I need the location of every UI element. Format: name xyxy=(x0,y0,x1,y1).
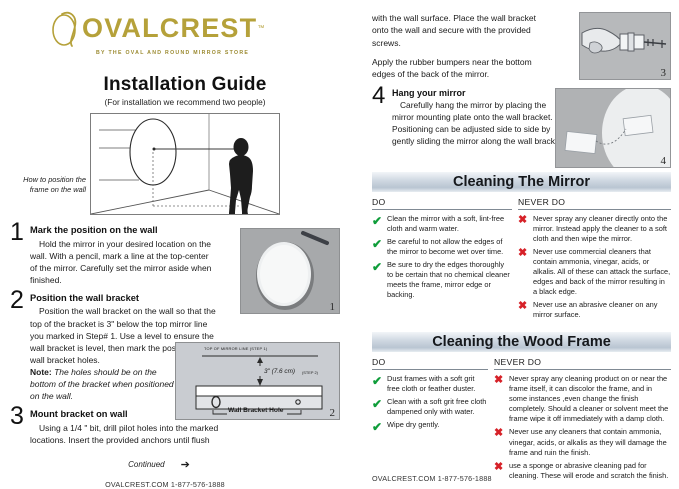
never-do-item: ✖ use a sponge or abrasive cleaning pad … xyxy=(494,461,671,481)
never-do-header: NEVER DO xyxy=(518,197,671,210)
right-column: with the wall surface. Place the wall br… xyxy=(372,0,679,489)
room-diagram-caption: How to position the frame on the wall xyxy=(10,175,86,195)
room-perspective-svg xyxy=(91,114,279,214)
never-do-item: ✖ Never use commercial cleaners that con… xyxy=(518,247,671,297)
do-item: ✔ Wipe dry gently. xyxy=(372,420,488,433)
arrow-right-icon: ➔ xyxy=(181,458,190,471)
check-icon: ✔ xyxy=(372,374,383,394)
step-4: 4 Hang your mirror Carefully hang the mi… xyxy=(372,88,570,148)
cross-icon: ✖ xyxy=(494,374,505,424)
step-2-note-text: The holes should be on the bottom of the… xyxy=(30,367,174,401)
cleaning-frame-do-column: DO ✔ Dust frames with a soft grit free c… xyxy=(372,357,494,484)
check-icon: ✔ xyxy=(372,237,383,257)
step-4-heading: Hang your mirror xyxy=(392,88,570,99)
step-3-number: 3 xyxy=(10,404,24,429)
step-3-body: Using a 1/4 " bit, drill pilot holes int… xyxy=(30,422,248,446)
left-column: OVALCREST ™ BY THE OVAL AND ROUND MIRROR… xyxy=(0,0,372,489)
step-2-heading: Position the wall bracket xyxy=(30,293,218,305)
page-subtitle: (For installation we recommend two peopl… xyxy=(8,97,362,107)
cross-icon: ✖ xyxy=(494,427,505,457)
never-do-item: ✖ Never use an abrasive cleaner on any m… xyxy=(518,300,671,320)
oval-mirror-photo: 1 xyxy=(240,228,340,314)
page-title: Installation Guide xyxy=(8,74,362,96)
cleaning-mirror-title: Cleaning The Mirror xyxy=(372,172,671,192)
room-diagram: How to position the frame on the wall xyxy=(8,113,362,218)
cleaning-wood-frame-panel: Cleaning the Wood Frame DO ✔ Dust frames… xyxy=(372,332,671,484)
never-do-item: ✖ Never spray any cleaner directly onto … xyxy=(518,214,671,244)
do-item: ✔ Dust frames with a soft grit free clot… xyxy=(372,374,488,394)
step-2-note-label: Note: xyxy=(30,367,52,377)
never-do-item: ✖ Never use any cleaners that contain am… xyxy=(494,427,671,457)
cleaning-mirror-panel: Cleaning The Mirror DO ✔ Clean the mirro… xyxy=(372,172,671,324)
continued-marker: Continued ➔ xyxy=(8,458,362,471)
photo-4-label: 4 xyxy=(661,155,667,167)
wall-bracket-diagram: TOP OF MIRROR LINE (STEP 1) 3" (7.6 cm) … xyxy=(175,342,340,420)
cleaning-wood-frame-title: Cleaning the Wood Frame xyxy=(372,332,671,352)
step-1: 1 Mark the position on the wall Hold the… xyxy=(8,225,214,286)
check-icon: ✔ xyxy=(372,214,383,234)
cleaning-frame-never-column: NEVER DO ✖ Never spray any cleaning prod… xyxy=(494,357,671,484)
check-icon: ✔ xyxy=(372,397,383,417)
check-icon: ✔ xyxy=(372,260,383,300)
step-1-body: Hold the mirror in your desired location… xyxy=(30,238,214,286)
never-do-item: ✖ Never spray any cleaning product on or… xyxy=(494,374,671,424)
trademark-symbol: ™ xyxy=(257,25,264,32)
right-intro-paragraph-1: with the wall surface. Place the wall br… xyxy=(372,12,550,49)
brand-logo: OVALCREST ™ BY THE OVAL AND ROUND MIRROR… xyxy=(50,8,362,64)
cross-icon: ✖ xyxy=(518,247,529,297)
cleaning-mirror-never-column: NEVER DO ✖ Never spray any cleaner direc… xyxy=(518,197,671,324)
never-do-header: NEVER DO xyxy=(494,357,671,370)
bracket-hole-label: Wall Bracket Hole xyxy=(228,407,283,414)
installation-guide-page: OVALCREST ™ BY THE OVAL AND ROUND MIRROR… xyxy=(0,0,679,489)
brand-name: OVALCREST xyxy=(82,15,257,42)
right-intro-text: with the wall surface. Place the wall br… xyxy=(372,12,550,81)
right-intro-paragraph-2: Apply the rubber bumpers near the bottom… xyxy=(372,56,550,81)
oval-swirl-icon xyxy=(50,8,84,48)
footer-right: OVALCREST.COM 1-877-576-1888 xyxy=(372,474,492,483)
step-4-number: 4 xyxy=(372,84,385,108)
cross-icon: ✖ xyxy=(518,300,529,320)
do-item: ✔ Be sure to dry the edges thoroughly to… xyxy=(372,260,512,300)
drill-photo: 3 xyxy=(579,12,671,80)
photo-3-label: 3 xyxy=(661,67,667,79)
do-item: ✔ Clean with a soft grit free cloth damp… xyxy=(372,397,488,417)
hanging-mirror-photo: 4 xyxy=(555,88,671,168)
do-item: ✔ Clean the mirror with a soft, lint-fre… xyxy=(372,214,512,234)
step-1-number: 1 xyxy=(10,220,24,245)
room-diagram-frame xyxy=(90,113,280,215)
bracket-measure: 3" (7.6 cm) xyxy=(264,368,295,375)
photo-2-label: 2 xyxy=(330,407,336,419)
check-icon: ✔ xyxy=(372,420,383,433)
cleaning-mirror-do-column: DO ✔ Clean the mirror with a soft, lint-… xyxy=(372,197,518,324)
step-4-body: Carefully hang the mirror by placing the… xyxy=(392,100,570,148)
photo-1-label: 1 xyxy=(330,301,336,313)
footer-left: OVALCREST.COM 1-877-576-1888 xyxy=(8,480,362,489)
bracket-measure-step: (STEP 2) xyxy=(302,370,318,375)
cross-icon: ✖ xyxy=(494,461,505,481)
step-2-number: 2 xyxy=(10,288,24,313)
step-2-note: Note: The holes should be on the bottom … xyxy=(30,366,180,402)
do-item: ✔ Be careful to not allow the edges of t… xyxy=(372,237,512,257)
do-header: DO xyxy=(372,357,488,370)
bracket-top-line-label: TOP OF MIRROR LINE (STEP 1) xyxy=(204,346,267,351)
brand-tagline: BY THE OVAL AND ROUND MIRROR STORE xyxy=(96,50,362,56)
continued-label: Continued xyxy=(128,460,164,469)
cross-icon: ✖ xyxy=(518,214,529,244)
step-1-heading: Mark the position on the wall xyxy=(30,225,214,237)
do-header: DO xyxy=(372,197,512,210)
